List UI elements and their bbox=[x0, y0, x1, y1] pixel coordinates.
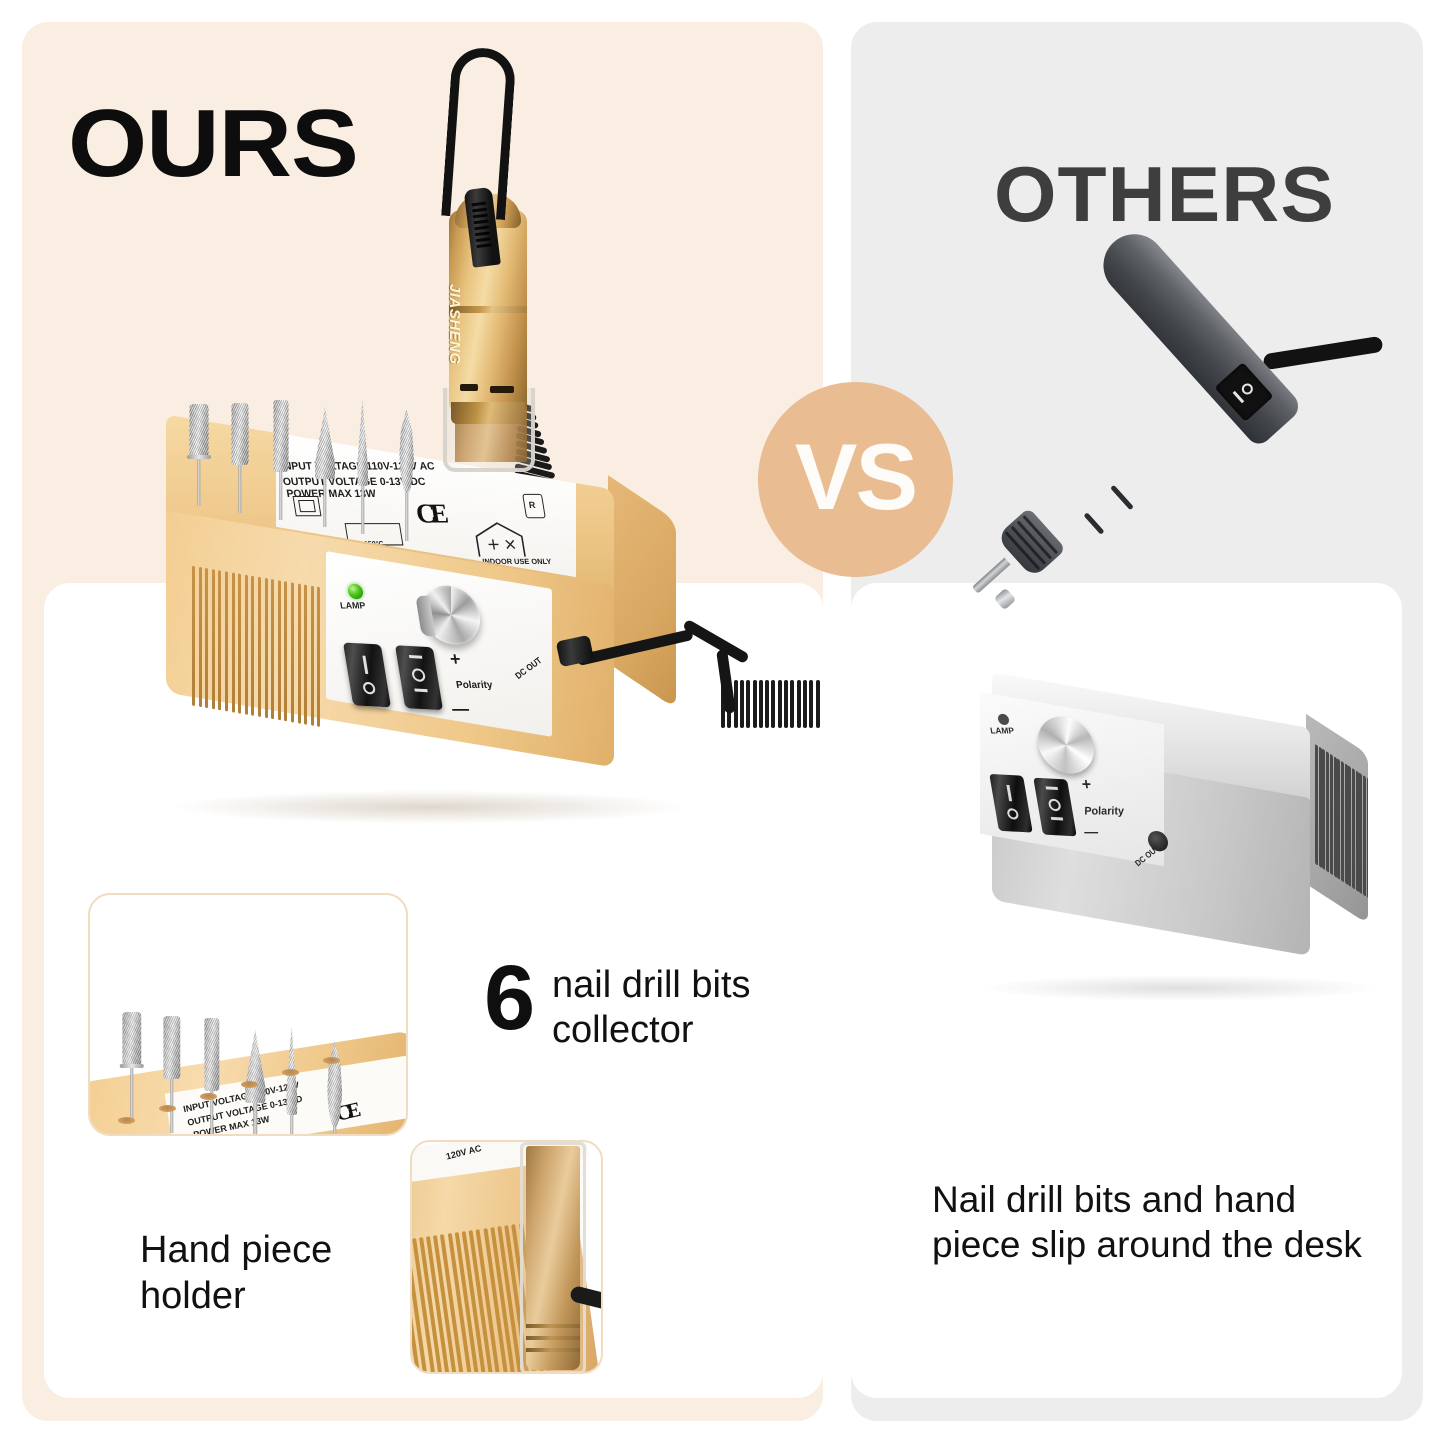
comparison-infographic: OURS OTHERS JIASHENG bbox=[0, 0, 1445, 1445]
drill-bit-head bbox=[327, 1041, 342, 1127]
drill-bit-hole bbox=[200, 1093, 217, 1100]
polarity-minus-symbol: — bbox=[450, 699, 470, 719]
drill-bit-head bbox=[189, 404, 208, 458]
inset-card-drill-bits: INPUT VOLTAGE 110V-120V OUTPUT VOLTAGE 0… bbox=[88, 893, 408, 1136]
inset-handpiece bbox=[526, 1146, 580, 1370]
ours-product-image: JIASHENG INPUT VOLTAGE 110V-120V AC OUTP… bbox=[0, 0, 823, 840]
drill-bit-shaft bbox=[197, 452, 200, 506]
vs-badge-text: VS bbox=[795, 430, 916, 524]
others-gray-handpiece bbox=[995, 345, 1335, 675]
drill-bit bbox=[273, 400, 288, 520]
drill-bits-count: 6 bbox=[484, 952, 535, 1044]
drill-bit-shaft bbox=[130, 1061, 133, 1121]
inset-card-handpiece-holder: 120V AC bbox=[410, 1140, 603, 1374]
gray-polarity-label: Polarity bbox=[1083, 806, 1125, 818]
drill-bit-head bbox=[231, 403, 248, 465]
others-heading: OTHERS bbox=[994, 155, 1335, 233]
gray-lamp-label: LAMP bbox=[989, 726, 1014, 736]
gold-handpiece: JIASHENG bbox=[449, 188, 535, 450]
drill-bit bbox=[122, 1012, 141, 1121]
drill-bit bbox=[357, 400, 368, 534]
polarity-plus-symbol: + bbox=[448, 649, 462, 670]
gray-handpiece-vent bbox=[1110, 485, 1134, 511]
drill-bit-shaft bbox=[170, 1073, 173, 1133]
machine-vents bbox=[188, 565, 320, 727]
gray-power-rocker-switch[interactable] bbox=[989, 774, 1033, 833]
gray-polarity-rocker-switch[interactable] bbox=[1033, 778, 1077, 837]
drill-bit bbox=[315, 407, 335, 527]
handpiece-holder-caption-line1: Hand piece bbox=[140, 1228, 332, 1274]
gray-lamp-indicator bbox=[997, 714, 1010, 725]
others-caption-line1: Nail drill bits and hand bbox=[932, 1177, 1362, 1222]
handpiece-vent bbox=[490, 386, 514, 393]
handpiece-brand-text: JIASHENG bbox=[441, 284, 463, 394]
drill-bit-shaft bbox=[253, 1097, 256, 1136]
drill-bit-shaft bbox=[279, 466, 282, 520]
drill-bit-head bbox=[245, 1030, 265, 1103]
handpiece-vent bbox=[460, 384, 478, 391]
drill-bit-shaft bbox=[238, 459, 241, 513]
dc-out-label: DC OUT bbox=[513, 655, 544, 681]
drill-bit bbox=[231, 403, 248, 513]
drill-bit-collar bbox=[187, 455, 211, 459]
certification-icon: R bbox=[522, 494, 546, 518]
speed-knob[interactable] bbox=[418, 586, 485, 645]
drill-bit-head bbox=[273, 400, 288, 472]
drill-bit bbox=[286, 1027, 297, 1136]
drill-bits-caption: nail drill bits collector bbox=[552, 963, 751, 1053]
gray-handpiece-vent bbox=[1083, 512, 1104, 535]
gray-handpiece-bit bbox=[994, 588, 1017, 611]
drill-bit bbox=[204, 1018, 219, 1136]
drill-bit-head bbox=[122, 1012, 141, 1067]
drill-bit-hole bbox=[323, 1057, 340, 1064]
drill-bit-hole bbox=[118, 1117, 135, 1124]
drill-bit-shaft bbox=[361, 480, 364, 534]
inset-drill-bits-row bbox=[118, 937, 398, 1127]
gray-speed-knob[interactable] bbox=[1034, 717, 1099, 774]
drill-bit-hole bbox=[159, 1105, 176, 1112]
handpiece-holder-caption: Hand piece holder bbox=[140, 1228, 332, 1319]
drill-bit-head bbox=[357, 400, 368, 486]
lamp-label: LAMP bbox=[339, 600, 366, 610]
switch-on-symbol bbox=[1240, 381, 1256, 397]
drill-bit bbox=[399, 409, 414, 541]
drill-bit-shaft bbox=[323, 473, 326, 527]
dc-cable bbox=[576, 620, 756, 728]
gray-polarity-minus: — bbox=[1083, 823, 1100, 839]
others-caption-line2: piece slip around the desk bbox=[932, 1222, 1362, 1267]
drill-bit-head bbox=[163, 1016, 180, 1079]
polarity-rocker-switch[interactable] bbox=[395, 645, 443, 710]
inset-label-fragment: 120V AC bbox=[445, 1143, 483, 1161]
drill-bit-hole bbox=[241, 1081, 258, 1088]
drill-bit bbox=[163, 1016, 180, 1133]
others-caption: Nail drill bits and hand piece slip arou… bbox=[932, 1177, 1362, 1267]
drill-bit-head bbox=[399, 409, 414, 493]
others-nail-drill-machine: LAMP + Polarity — DC OUT bbox=[970, 700, 1375, 990]
drill-bit bbox=[327, 1041, 342, 1136]
power-rocker-switch[interactable] bbox=[343, 643, 391, 708]
drill-bit-head bbox=[315, 407, 335, 479]
drill-bits-caption-line2: collector bbox=[552, 1008, 751, 1053]
drill-bits-caption-line1: nail drill bits bbox=[552, 963, 751, 1008]
gray-polarity-plus: + bbox=[1081, 776, 1093, 794]
vs-badge: VS bbox=[758, 382, 953, 577]
drill-bit bbox=[189, 404, 208, 506]
drill-bits-row bbox=[183, 372, 443, 512]
drill-bit-collar bbox=[119, 1064, 143, 1068]
drill-bit-hole bbox=[282, 1069, 299, 1076]
handpiece-collar bbox=[451, 402, 525, 424]
lamp-led-indicator bbox=[347, 584, 364, 599]
drill-bit-head bbox=[204, 1018, 219, 1091]
polarity-label: Polarity bbox=[455, 680, 493, 691]
drill-bit-shaft bbox=[405, 487, 408, 541]
handpiece-holder-caption-line2: holder bbox=[140, 1274, 332, 1320]
